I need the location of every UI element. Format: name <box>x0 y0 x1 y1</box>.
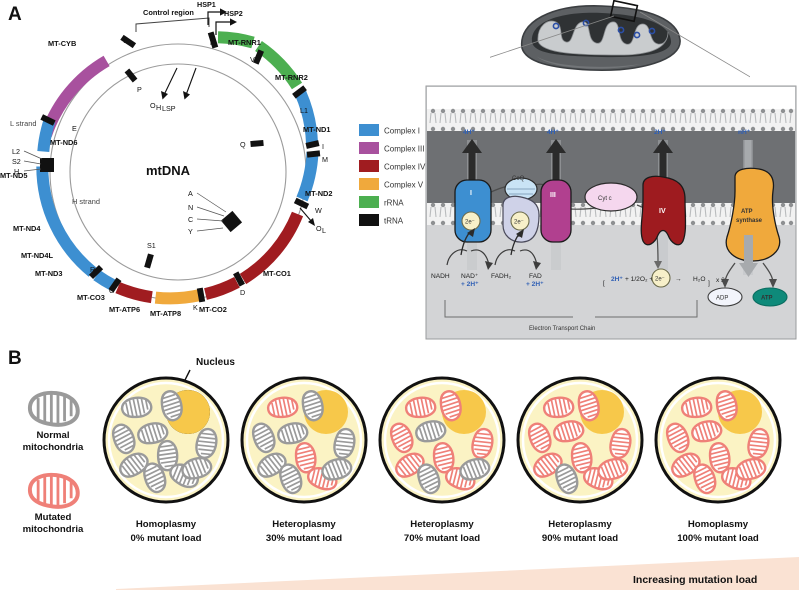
electron-label-ii: 2e⁻ <box>514 220 524 226</box>
equation-arrow: → <box>675 276 682 283</box>
gene-label-mt-nd1: MT-ND1 <box>303 125 331 134</box>
cell-5-load: 100% mutant load <box>677 533 759 544</box>
trna-label-y: Y <box>188 227 193 236</box>
cell-heteroplasmy-70: Heteroplasmy 70% mutant load <box>380 378 504 544</box>
legend-swatch-trna <box>359 214 379 226</box>
gene-label-mt-rnr1: MT-RNR1 <box>228 38 261 47</box>
legend-item-complex-v: Complex V <box>359 178 424 190</box>
legend-label-rrna: rRNA <box>384 199 404 208</box>
cyt-c-label: Cyt c <box>598 196 612 202</box>
cell-4-title: Heteroplasmy <box>548 519 612 530</box>
gene-arc-mt-co3 <box>118 288 152 298</box>
substrate-label-nadh: NADH <box>431 273 450 280</box>
trna-label-m: M <box>322 155 328 164</box>
trna-leader-lines <box>197 193 226 231</box>
substrate-label-fadh2: FADH₂ <box>491 273 512 280</box>
trna-block-s1 <box>144 253 154 268</box>
nucleus-label: Nucleus <box>196 357 235 368</box>
adp-label: ADP <box>716 296 728 302</box>
control-region-label: Control region <box>143 8 194 17</box>
h-strand-label: H strand <box>72 197 100 206</box>
l-strand-label: L strand <box>10 119 36 128</box>
key-mutated-line2: mitochondria <box>23 524 84 535</box>
lsp-arrow <box>183 68 196 100</box>
atp-synthase-label-line2: synthase <box>736 218 763 224</box>
oh-arrow <box>161 68 177 100</box>
cell-homoplasmy-100: Homoplasmy 100% mutant load <box>656 378 780 544</box>
substrate-label-nad-h: + 2H⁺ <box>461 281 479 288</box>
oh-sub: H <box>156 103 161 112</box>
legend-label-complex-iii: Complex III <box>384 145 424 154</box>
equation-protons: 2H⁺ <box>611 276 623 283</box>
trna-label-w: W <box>315 206 322 215</box>
trna-label-r: R <box>90 265 95 274</box>
mtdna-center-label: mtDNA <box>146 163 191 178</box>
cell-4-load: 90% mutant load <box>542 533 618 544</box>
complex-i-label: I <box>470 190 472 197</box>
legend-item-complex-iii: Complex III <box>359 142 424 154</box>
substrate-label-fad-h: + 2H⁺ <box>526 281 544 288</box>
mtdna-map: Control region HSP1 HSP2 O H LSP O L MT-… <box>0 0 420 345</box>
trna-label-v: V <box>250 55 255 64</box>
trna-label-l1: L1 <box>300 106 308 115</box>
equation-bracket-right: ] <box>708 280 710 287</box>
trna-label-q: Q <box>240 140 246 149</box>
legend-swatch-complex-i <box>359 124 379 136</box>
complex-iv-label: IV <box>659 208 666 215</box>
cell-5-title: Homoplasmy <box>688 519 749 530</box>
adp-molecule: ADP <box>708 288 742 306</box>
gene-arc-mt-atp6-atp8 <box>156 295 200 298</box>
trna-label-i: I <box>322 142 324 151</box>
trna-label-c: C <box>188 215 193 224</box>
trna-label-t: T <box>122 36 127 45</box>
legend-swatch-complex-iv <box>359 160 379 172</box>
equation-product: H₂O <box>693 276 705 283</box>
legend-label-complex-v: Complex V <box>384 181 424 190</box>
legend-item-complex-iv: Complex IV <box>359 160 426 172</box>
complex-iii-label: III <box>550 192 556 199</box>
trna-label-l2: L2 <box>12 147 20 156</box>
key-normal-mitochondria: Normal mitochondria <box>23 393 84 453</box>
control-region-bracket <box>136 18 209 32</box>
legend-swatch-complex-v <box>359 178 379 190</box>
mitochondrion-illustration <box>490 0 750 80</box>
gene-label-mt-nd6: MT-ND6 <box>50 138 78 147</box>
lsp-label: LSP <box>162 104 176 113</box>
trna-label-e: E <box>72 124 77 133</box>
trna-label-h: H <box>14 167 19 176</box>
mtdna-legend: Complex I Complex III Complex IV Complex… <box>358 120 428 240</box>
panel-b: Normal mitochondria Mutated mitochondria… <box>0 345 799 596</box>
trna-label-n: N <box>188 203 193 212</box>
legend-label-complex-i: Complex I <box>384 127 420 136</box>
cyt-c-carrier: Cyt c <box>585 183 637 211</box>
gene-label-mt-rnr2: MT-RNR2 <box>275 73 308 82</box>
trna-block-l2-s2-h <box>40 158 54 172</box>
gene-label-mt-nd4l: MT-ND4L <box>21 251 54 260</box>
gene-arc-mt-nd1 <box>301 93 313 144</box>
gene-label-mt-atp6: MT-ATP6 <box>109 305 140 314</box>
trna-label-s1: S1 <box>147 241 156 250</box>
cell-1-load: 0% mutant load <box>131 533 202 544</box>
legend-item-complex-i: Complex I <box>359 124 420 136</box>
trna-label-a: A <box>188 189 193 198</box>
trna-label-k: K <box>193 303 198 312</box>
trna-block-p <box>125 69 138 83</box>
atp-label: ATP <box>761 296 773 302</box>
equation-electron: 2e⁻ <box>655 277 665 283</box>
trna-label-d: D <box>240 288 245 297</box>
trna-label-p: P <box>137 85 142 94</box>
equation-bracket-left: [ <box>603 280 605 287</box>
proton-label-atp-synthase: nH⁺ <box>738 129 751 136</box>
key-normal-line1: Normal <box>36 430 69 441</box>
gene-label-mt-nd4: MT-ND4 <box>13 224 41 233</box>
trna-label-g: G <box>109 286 115 295</box>
substrate-label-nad: NAD⁺ <box>461 273 479 280</box>
trna-label-s2: S2 <box>12 157 21 166</box>
electron-label-i: 2e⁻ <box>465 220 475 226</box>
substrate-label-fad: FAD <box>529 273 542 280</box>
cell-heteroplasmy-90: Heteroplasmy 90% mutant load <box>518 378 642 544</box>
trna-label-f: F <box>210 38 215 47</box>
hsp2-label: HSP2 <box>224 9 243 18</box>
gene-arc-mt-co2 <box>206 282 238 294</box>
intermembrane-space <box>427 87 795 112</box>
complex-iii: III <box>541 180 571 242</box>
gene-label-mt-nd3: MT-ND3 <box>35 269 63 278</box>
gene-label-mt-atp8: MT-ATP8 <box>150 309 181 318</box>
gene-label-mt-co3: MT-CO3 <box>77 293 105 302</box>
legend-swatch-rrna <box>359 196 379 208</box>
cell-2-title: Heteroplasmy <box>272 519 336 530</box>
gene-arc-mt-nd6 <box>43 121 49 152</box>
proton-label-complex-i: 4H⁺ <box>463 129 475 136</box>
gene-label-mt-co2: MT-CO2 <box>199 305 227 314</box>
cell-3-load: 70% mutant load <box>404 533 480 544</box>
cell-1-title: Homoplasmy <box>136 519 197 530</box>
legend-label-trna: tRNA <box>384 217 404 226</box>
key-mutated-mitochondria: Mutated mitochondria <box>23 475 84 535</box>
cell-homoplasmy-0: Homoplasmy 0% mutant load <box>104 378 228 544</box>
proton-label-complex-iv: 2H⁺ <box>654 129 666 136</box>
legend-item-rrna: rRNA <box>359 196 404 208</box>
gene-label-mt-cyb: MT-CYB <box>48 39 76 48</box>
atp-molecule: ATP <box>753 288 787 306</box>
gene-label-mt-co1: MT-CO1 <box>263 269 291 278</box>
etc-chain-label: Electron Transport Chain <box>529 326 595 332</box>
key-normal-line2: mitochondria <box>23 442 84 453</box>
trna-block-ancy <box>221 211 242 232</box>
coq-label: CoQ <box>512 176 525 182</box>
legend-label-complex-iv: Complex IV <box>384 163 426 172</box>
legend-swatch-complex-iii <box>359 142 379 154</box>
legend-item-trna: tRNA <box>359 214 404 226</box>
trna-block-q <box>250 140 263 147</box>
cell-3-title: Heteroplasmy <box>410 519 474 530</box>
equation-oxygen: + 1/2O₂ + <box>625 276 653 283</box>
proton-label-complex-iii: 4H⁺ <box>547 129 559 136</box>
gene-label-mt-nd2: MT-ND2 <box>305 189 333 198</box>
ol-sub: L <box>322 226 326 235</box>
cell-2-load: 30% mutant load <box>266 533 342 544</box>
atp-synthase-label-line1: ATP <box>741 209 753 215</box>
hsp1-label: HSP1 <box>197 0 216 9</box>
key-mutated-line1: Mutated <box>35 512 72 523</box>
cell-heteroplasmy-30: Heteroplasmy 30% mutant load <box>242 378 366 544</box>
etc-panel: 4H⁺ 4H⁺ 2H⁺ nH⁺ I 2e⁻ CoQ 2e⁻ II III Cyt… <box>425 85 797 340</box>
mutation-load-label: Increasing mutation load <box>633 574 757 586</box>
gene-arc-mt-nd4l-nd3 <box>97 275 114 285</box>
